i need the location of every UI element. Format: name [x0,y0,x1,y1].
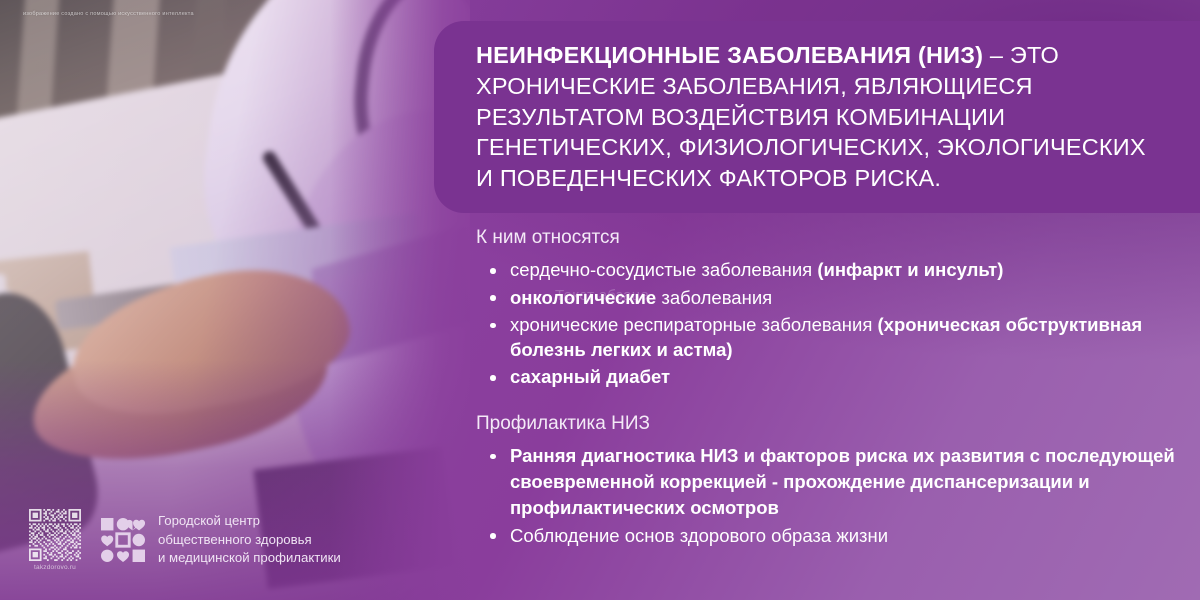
body-content: К ним относятся сердечно-сосудистые забо… [476,226,1182,550]
organization-logo: Городской центр общественного здоровья и… [101,509,341,568]
list-item: онкологические заболевания [476,285,1182,310]
health-grid-mark-icon [101,518,145,562]
item-bold: сахарный диабет [510,366,670,387]
item-normal: Соблюдение основ здорового образа жизни [510,525,888,546]
item-normal: сердечно-сосудистые заболевания [510,259,817,280]
list-item: сердечно-сосудистые заболевания (инфаркт… [476,257,1182,282]
qr-code-block[interactable]: takzdorovo.ru [27,509,83,571]
list-item: сахарный диабет [476,364,1182,389]
list-item: хронические респираторные заболевания (х… [476,312,1182,363]
logo-block: takzdorovo.ru [27,509,341,571]
prevention-lead: Профилактика НИЗ [476,412,1182,436]
types-lead: К ним относятся [476,226,1182,250]
item-normal: хронические респираторные заболевания [510,314,878,335]
list-item: Соблюдение основ здорового образа жизни [476,523,1182,549]
item-bold: Ранняя диагностика НИЗ и факторов риска … [510,445,1175,519]
list-item: Ранняя диагностика НИЗ и факторов риска … [476,443,1182,522]
title-text: НЕИНФЕКЦИОННЫЕ ЗАБОЛЕВАНИЯ (НИЗ) – ЭТО Х… [476,40,1166,194]
slide-root: изображение создано с помощью искусствен… [0,0,1200,600]
org-name-line-1: Городской центр [158,512,341,531]
organization-name: Городской центр общественного здоровья и… [158,512,341,568]
title-card: НЕИНФЕКЦИОННЫЕ ЗАБОЛЕВАНИЯ (НИЗ) – ЭТО Х… [434,21,1200,213]
qr-code-icon[interactable] [29,509,81,561]
title-term: НЕИНФЕКЦИОННЫЕ ЗАБОЛЕВАНИЯ (НИЗ) [476,42,983,68]
org-name-line-2: общественного здоровья [158,531,341,550]
prevention-list: Ранняя диагностика НИЗ и факторов риска … [476,443,1182,549]
item-tail: заболевания [656,287,772,308]
disease-types-list: сердечно-сосудистые заболевания (инфаркт… [476,257,1182,389]
ai-generated-credit: изображение создано с помощью искусствен… [23,11,194,17]
item-bold: онкологические [510,287,656,308]
org-name-line-3: и медицинской профилактики [158,549,341,568]
prevention-section: Профилактика НИЗ Ранняя диагностика НИЗ … [476,412,1182,549]
qr-code-url-label: takzdorovo.ru [34,564,76,571]
item-bold: (инфаркт и инсульт) [817,259,1003,280]
